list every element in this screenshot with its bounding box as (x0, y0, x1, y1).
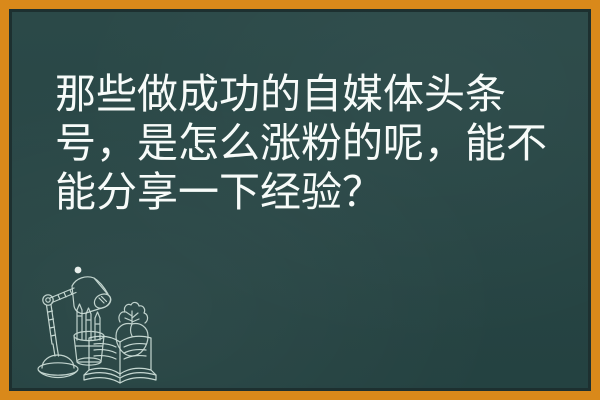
chalkboard: 那些做成功的自媒体头条号，是怎么涨粉的呢，能不能分享一下经验？ (12, 12, 588, 388)
pencil-cup-icon (74, 304, 104, 365)
apple-icon (116, 302, 148, 356)
chalk-desk-scene (20, 264, 192, 386)
desk-lamp-icon (38, 277, 111, 378)
page-title: 那些做成功的自媒体头条号，是怎么涨粉的呢，能不能分享一下经验？ (55, 70, 563, 217)
poster-canvas: 那些做成功的自媒体头条号，是怎么涨粉的呢，能不能分享一下经验？ (0, 0, 600, 400)
light-dot-icon (75, 267, 82, 274)
open-book-icon (84, 336, 156, 383)
